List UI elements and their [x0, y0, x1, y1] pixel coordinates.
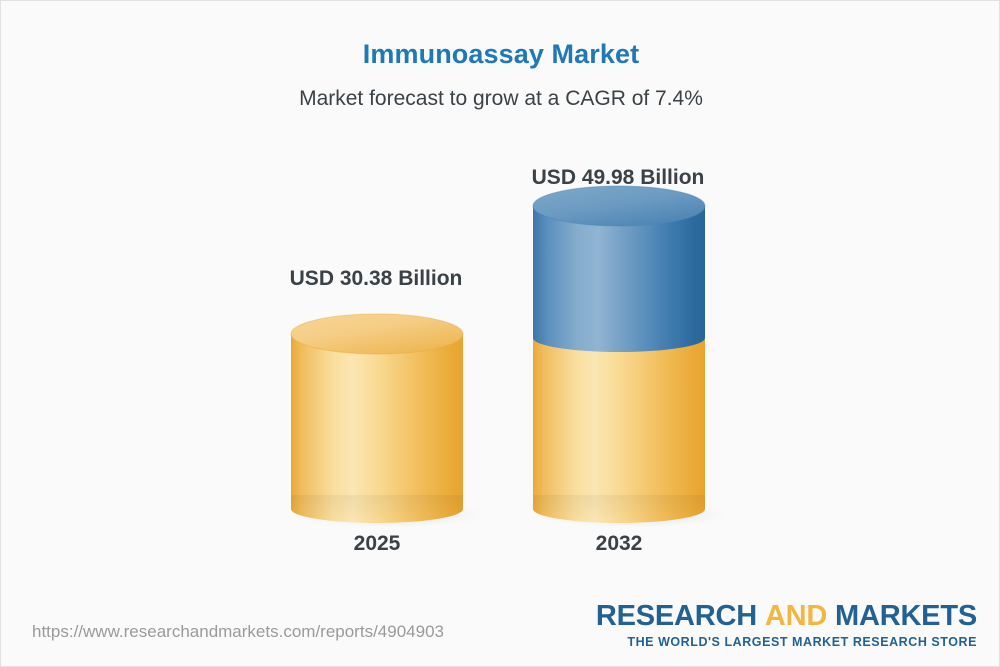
bar-2032-value-label: USD 49.98 Billion — [433, 166, 803, 190]
brand-logo-markets: MARKETS — [835, 600, 977, 632]
bar-2032-category-label: 2032 — [499, 532, 739, 556]
infographic-canvas: Immunoassay Market Market forecast to gr… — [0, 0, 1000, 667]
chart-plot-area: USD 30.38 Billion USD 49.98 Billion 2025… — [1, 1, 1000, 601]
report-url[interactable]: https://www.researchandmarkets.com/repor… — [32, 622, 444, 642]
bar-2025-value-label: USD 30.38 Billion — [191, 267, 561, 291]
brand-logo-research: RESEARCH — [596, 600, 757, 632]
bar-2032-bottom-shade — [533, 495, 705, 523]
bar-2032[interactable] — [533, 186, 729, 528]
brand-logo[interactable]: RESEARCH AND MARKETS THE WORLD'S LARGEST… — [596, 602, 977, 649]
cylinder-chart-svg — [1, 1, 1000, 601]
brand-logo-tagline: THE WORLD'S LARGEST MARKET RESEARCH STOR… — [596, 636, 977, 649]
bar-2025-body — [291, 334, 463, 523]
bar-2025[interactable] — [291, 314, 487, 528]
brand-logo-wordmark: RESEARCH AND MARKETS — [596, 602, 977, 631]
bar-2025-bottom-shade — [291, 495, 463, 523]
bar-2025-category-label: 2025 — [257, 532, 497, 556]
brand-logo-and: AND — [765, 600, 827, 632]
